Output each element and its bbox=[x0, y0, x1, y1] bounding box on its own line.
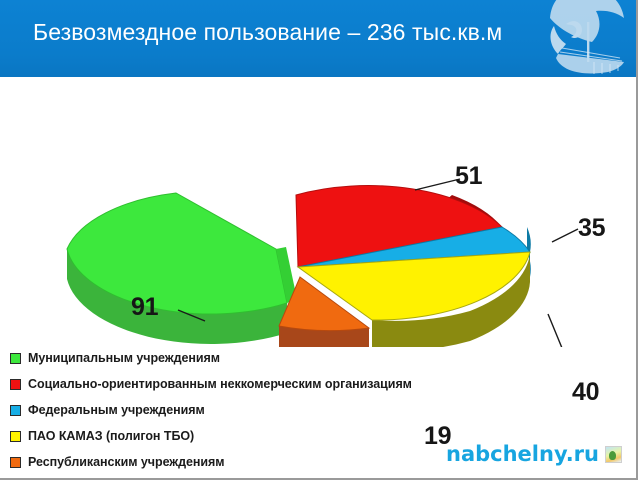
page-title: Безвозмездное пользование – 236 тыс.кв.м bbox=[33, 19, 502, 46]
nabchelny-logo-icon bbox=[605, 446, 622, 463]
legend-item-federal[interactable]: Федеральным учреждениям bbox=[10, 397, 570, 423]
data-label-kamaz: 40 bbox=[572, 378, 599, 407]
legend-label-social: Социально-ориентированным неккомерческим… bbox=[28, 377, 412, 391]
legend-swatch-federal bbox=[10, 405, 21, 416]
legend-item-social[interactable]: Социально-ориентированным неккомерческим… bbox=[10, 371, 570, 397]
nabchelny-logo-text: nabchelny.ru bbox=[446, 442, 599, 466]
legend-label-republican: Республиканским учреждениям bbox=[28, 455, 224, 469]
legend-swatch-republican bbox=[10, 457, 21, 468]
legend-swatch-social bbox=[10, 379, 21, 390]
pie-chart: 51 35 40 19 91 bbox=[0, 77, 636, 347]
ship-emblem-icon bbox=[536, 0, 632, 77]
data-label-federal: 35 bbox=[578, 214, 605, 243]
pie-chart-svg bbox=[0, 77, 636, 347]
nabchelny-watermark[interactable]: nabchelny.ru bbox=[446, 442, 622, 466]
slide-header: Безвозмездное пользование – 236 тыс.кв.м bbox=[0, 0, 638, 77]
data-label-social: 51 bbox=[455, 162, 482, 191]
legend-swatch-municipal bbox=[10, 353, 21, 364]
legend-label-municipal: Муниципальным учреждениям bbox=[28, 351, 220, 365]
legend-label-kamaz: ПАО КАМАЗ (полигон ТБО) bbox=[28, 429, 194, 443]
data-label-municipal: 91 bbox=[131, 293, 158, 322]
legend-label-federal: Федеральным учреждениям bbox=[28, 403, 205, 417]
slide-canvas: Безвозмездное пользование – 236 тыс.кв.м bbox=[0, 0, 638, 480]
legend-item-municipal[interactable]: Муниципальным учреждениям bbox=[10, 345, 570, 371]
legend-swatch-kamaz bbox=[10, 431, 21, 442]
